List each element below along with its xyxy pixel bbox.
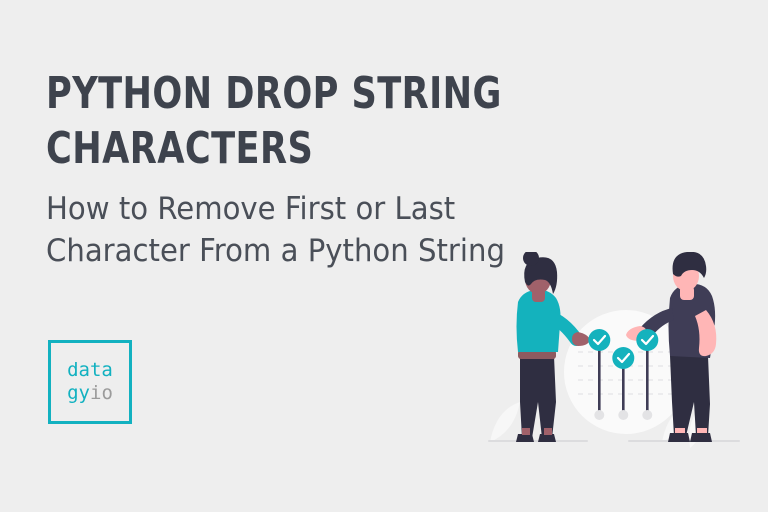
man-trousers	[670, 356, 710, 436]
woman-shoe-right	[538, 434, 556, 442]
check-pin-left	[588, 329, 610, 351]
logo-text-gy: gy	[67, 382, 90, 404]
woman-trousers	[520, 356, 556, 438]
man-shoe-left	[668, 433, 690, 442]
man-shoe-right	[690, 433, 712, 442]
woman-shoe-left	[516, 434, 534, 442]
title-line-2: CHARACTERS	[46, 121, 494, 176]
subtitle-line-1: How to Remove First or Last	[46, 188, 629, 230]
check-pin-right	[636, 329, 658, 351]
page-title: PYTHON DROP STRING CHARACTERS	[46, 66, 606, 176]
logo-text-gyio: gyio	[67, 382, 113, 405]
check-pin-middle	[612, 347, 634, 369]
logo-text-io: io	[90, 382, 113, 404]
title-line-1: PYTHON DROP STRING	[46, 66, 494, 121]
featured-image-canvas: PYTHON DROP STRING CHARACTERS How to Rem…	[0, 0, 768, 512]
illustration-two-people-checkmarks	[480, 252, 768, 462]
datagy-logo[interactable]: data gyio	[48, 340, 132, 424]
logo-text-data: data	[67, 359, 113, 382]
